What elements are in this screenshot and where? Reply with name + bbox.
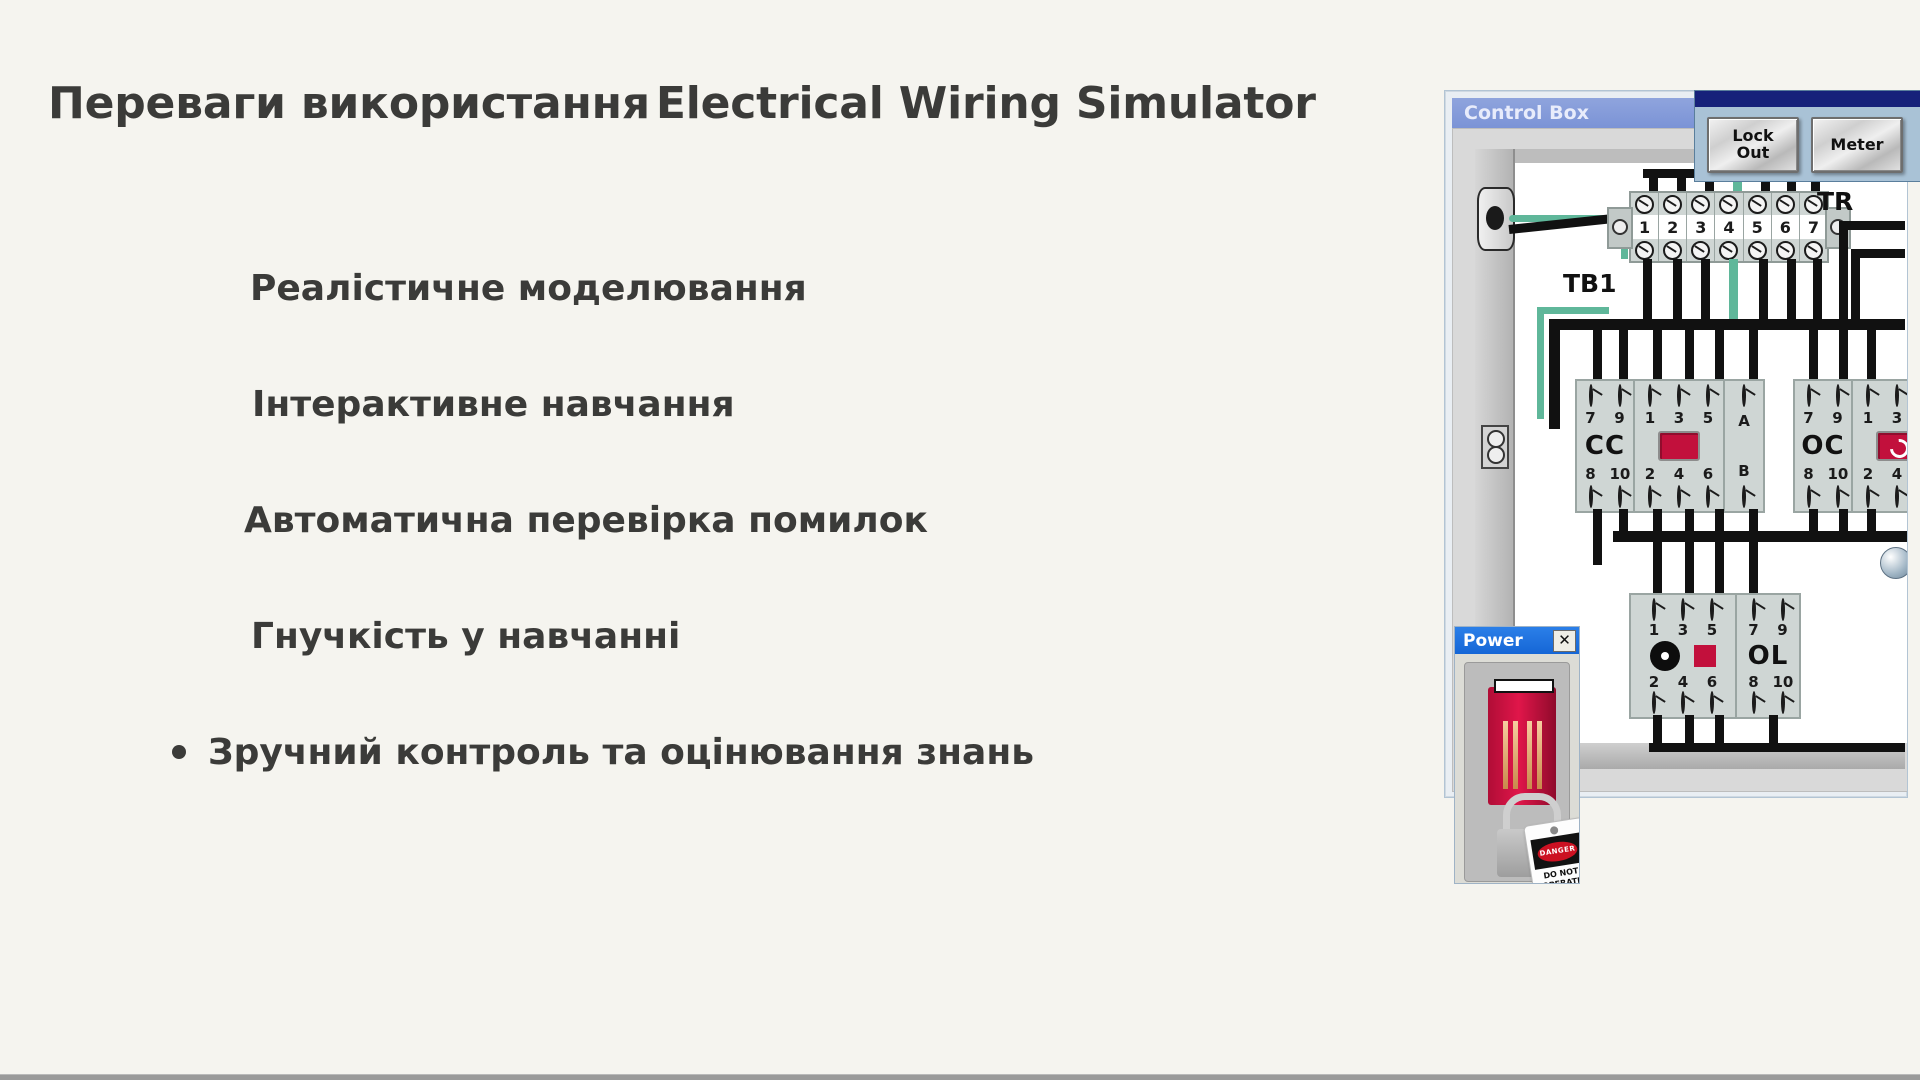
tb1-numbers: 1 2 3 4 5 6 7 (1631, 215, 1827, 239)
relay-pin-number: 6 (1698, 465, 1718, 483)
fuse-prong (1503, 721, 1508, 789)
wire-black (1809, 509, 1818, 537)
ol-pin-number: 10 (1773, 673, 1793, 691)
tag-hole-icon (1550, 826, 1559, 835)
terminal-screw-icon[interactable] (1706, 384, 1710, 407)
benefits-list: Реалістичне моделювання Інтерактивне нав… (0, 230, 1180, 810)
wire-black (1715, 509, 1724, 595)
tag-danger-band: DANGER (1530, 832, 1579, 869)
list-item-label: Автоматична перевірка помилок (244, 500, 928, 541)
relay-pin-number: 2 (1858, 465, 1878, 483)
wire-ground (1537, 307, 1544, 419)
wire-black (1839, 509, 1848, 537)
ol-pin-number: 7 (1744, 621, 1764, 639)
list-item-label: Реалістичне моделювання (250, 268, 807, 309)
relay-pin-number: 5 (1698, 409, 1718, 427)
wire-black (1851, 249, 1860, 321)
relay-pin-number: 2 (1640, 465, 1660, 483)
list-item-label: Гнучкість у навчанні (251, 616, 680, 657)
terminal-screw-icon[interactable] (1677, 485, 1681, 508)
terminal-screw-icon[interactable] (1895, 384, 1899, 407)
power-titlebar[interactable]: Power ✕ (1455, 627, 1579, 654)
terminal-block-tb1[interactable]: 1 2 3 4 5 6 7 (1629, 191, 1829, 263)
relay-pin-number: 10 (1828, 465, 1848, 483)
bullet-dot-icon (172, 745, 186, 759)
slide-bottom-divider (0, 1074, 1920, 1080)
relay-pin-number: 7 (1581, 409, 1601, 427)
terminal-screw-icon[interactable] (1866, 384, 1870, 407)
terminal-screw-icon[interactable] (1719, 195, 1738, 214)
wire-ground (1729, 259, 1738, 321)
wire-black (1813, 259, 1822, 321)
simulator-screenshot: Control Box (1444, 90, 1920, 796)
relay-pin-number: A (1734, 412, 1754, 430)
tb1-label: TB1 (1563, 269, 1617, 298)
control-box-title: Control Box (1464, 102, 1589, 124)
relay-pin-number: 9 (1610, 409, 1630, 427)
page-title: Переваги використанняElectrical Wiring S… (48, 78, 1316, 129)
terminal-screw-icon[interactable] (1618, 485, 1622, 508)
disconnect-handle[interactable] (1488, 687, 1556, 805)
ol-pin-number: 3 (1673, 621, 1693, 639)
wire-black (1839, 221, 1905, 230)
overload-trip-indicator[interactable] (1694, 645, 1716, 667)
disconnect-panel[interactable]: DANGER DO NOT OPERATE (1464, 662, 1570, 882)
terminal-screw-icon[interactable] (1781, 598, 1785, 621)
terminal-screw-icon[interactable] (1895, 485, 1899, 508)
overload-relay-ol[interactable]: 135 246 79 OL 810 (1629, 593, 1801, 719)
wire-black (1653, 329, 1662, 381)
wire-black (1673, 259, 1682, 321)
tb1-number: 5 (1744, 215, 1772, 239)
wire-black (1643, 259, 1652, 321)
terminal-screw-icon[interactable] (1681, 598, 1685, 621)
list-item: Автоматична перевірка помилок (0, 462, 1180, 578)
terminal-screw-icon[interactable] (1776, 241, 1795, 260)
terminal-screw-icon[interactable] (1807, 384, 1811, 407)
fuse-prong (1527, 721, 1532, 789)
lockout-tag[interactable]: DANGER DO NOT OPERATE (1523, 817, 1579, 883)
wire-black (1749, 509, 1758, 595)
terminal-mount-ear (1607, 207, 1633, 249)
terminal-screw-icon[interactable] (1706, 485, 1710, 508)
wire-black (1685, 509, 1694, 595)
terminal-screw-icon[interactable] (1681, 691, 1685, 714)
terminal-screw-icon[interactable] (1748, 195, 1767, 214)
relay-cc[interactable]: 79 CC 810 135 246 A · B (1575, 379, 1765, 513)
power-window: Power ✕ DANGER DO NOT OPE (1454, 626, 1580, 884)
tool-palette-window: Lock Out Meter (1694, 90, 1920, 182)
ol-pin-number: 1 (1644, 621, 1664, 639)
wire-black (1759, 259, 1768, 321)
power-window-body: DANGER DO NOT OPERATE (1455, 654, 1579, 883)
wire-black (1653, 509, 1662, 595)
terminal-screw-icon[interactable] (1589, 384, 1593, 407)
terminal-screw-icon[interactable] (1748, 241, 1767, 260)
relay-name: CC (1585, 431, 1625, 461)
list-item: Інтерактивне навчання (0, 346, 1180, 462)
tb1-number: 3 (1687, 215, 1715, 239)
terminal-screw-icon[interactable] (1776, 195, 1795, 214)
list-item-label: Інтерактивне навчання (252, 384, 735, 425)
relay-coil-indicator[interactable] (1876, 431, 1908, 461)
ol-pin-number: 5 (1702, 621, 1722, 639)
tb1-number: 2 (1659, 215, 1687, 239)
wire-black (1787, 259, 1796, 321)
terminal-screw-icon[interactable] (1752, 598, 1756, 621)
lock-out-button[interactable]: Lock Out (1707, 117, 1799, 173)
wire-black (1749, 329, 1758, 381)
terminal-screw-icon[interactable] (1742, 384, 1746, 407)
wire-black (1593, 329, 1602, 381)
tb1-top-screws (1631, 193, 1827, 215)
relay-pin-number: 3 (1887, 409, 1907, 427)
terminal-screw-icon[interactable] (1691, 195, 1710, 214)
page-title-en: Electrical Wiring Simulator (656, 78, 1316, 129)
relay-pin-number: 1 (1640, 409, 1660, 427)
overload-dial-icon[interactable] (1650, 641, 1680, 671)
ol-pin-number: 9 (1773, 621, 1793, 639)
tb1-number: 4 (1715, 215, 1743, 239)
tool-palette-body: Lock Out Meter (1695, 107, 1920, 183)
relay-pin-number: 8 (1799, 465, 1819, 483)
ol-pin-number: 6 (1702, 673, 1722, 691)
overload-name: OL (1748, 641, 1789, 671)
meter-button[interactable]: Meter (1811, 117, 1903, 173)
wire-black (1867, 509, 1876, 537)
list-item: Зручний контроль та оцінювання знань (0, 694, 1180, 810)
terminal-screw-icon[interactable] (1648, 485, 1652, 508)
terminal-screw-icon[interactable] (1652, 598, 1656, 621)
wire-black (1867, 329, 1876, 381)
ground-lug-icon (1481, 425, 1509, 469)
selector-knob-icon[interactable] (1880, 547, 1908, 579)
ol-pin-number: 4 (1673, 673, 1693, 691)
page-title-uk: Переваги використання (48, 78, 650, 129)
wire-black (1701, 259, 1710, 321)
terminal-screw-icon[interactable] (1589, 485, 1593, 508)
terminal-screw-icon[interactable] (1618, 384, 1622, 407)
relay-pin-number: 4 (1887, 465, 1907, 483)
relay-name: OC (1801, 431, 1844, 461)
relay-pin-number: B (1734, 462, 1754, 480)
list-item-label: Зручний контроль та оцінювання знань (208, 732, 1034, 773)
tb1-bottom-screws (1631, 239, 1827, 261)
terminal-screw-icon[interactable] (1663, 241, 1682, 260)
relay-pin-number: 1 (1858, 409, 1878, 427)
terminal-screw-icon[interactable] (1677, 384, 1681, 407)
terminal-screw-icon[interactable] (1710, 598, 1714, 621)
terminal-screw-icon[interactable] (1807, 485, 1811, 508)
terminal-screw-icon[interactable] (1742, 485, 1746, 508)
terminal-screw-icon[interactable] (1648, 384, 1652, 407)
wire-black (1549, 319, 1560, 429)
terminal-screw-icon[interactable] (1752, 691, 1756, 714)
wire-black (1619, 329, 1628, 381)
relay-pin-number: 7 (1799, 409, 1819, 427)
wire-black (1809, 329, 1818, 381)
tb1-number: 1 (1631, 215, 1659, 239)
terminal-screw-icon[interactable] (1836, 485, 1840, 508)
list-item: Гнучкість у навчанні (0, 578, 1180, 694)
wire-black (1649, 743, 1905, 752)
tool-palette-titlebar[interactable] (1695, 91, 1920, 107)
wire-black (1851, 249, 1905, 258)
relay-pin-number: 8 (1581, 465, 1601, 483)
wire-black (1839, 221, 1848, 321)
meter-label: Meter (1830, 137, 1883, 154)
wire-ground (1537, 307, 1609, 314)
power-window-title: Power (1463, 631, 1523, 651)
terminal-screw-icon[interactable] (1781, 691, 1785, 714)
terminal-screw-icon[interactable] (1710, 691, 1714, 714)
relay-pin-number: 3 (1669, 409, 1689, 427)
wire-black (1715, 329, 1724, 381)
relay-pin-number: 4 (1669, 465, 1689, 483)
tb1-number: 6 (1772, 215, 1800, 239)
wire-black (1593, 509, 1602, 565)
tag-danger-text: DANGER (1536, 839, 1578, 864)
relay-oc[interactable]: 79 OC 810 135 246 A · B (1793, 379, 1908, 513)
terminal-screw-icon[interactable] (1635, 195, 1654, 214)
ol-pin-number: 2 (1644, 673, 1664, 691)
terminal-screw-icon[interactable] (1804, 241, 1823, 260)
list-item: Реалістичне моделювання (0, 230, 1180, 346)
relay-pin-number: 9 (1828, 409, 1848, 427)
terminal-screw-icon[interactable] (1836, 384, 1840, 407)
tb1-number: 7 (1800, 215, 1827, 239)
wire-black (1839, 329, 1848, 381)
terminal-screw-icon[interactable] (1866, 485, 1870, 508)
wire-black (1685, 329, 1694, 381)
terminal-screw-icon[interactable] (1663, 195, 1682, 214)
close-icon[interactable]: ✕ (1553, 630, 1576, 652)
relay-pin-number: 10 (1610, 465, 1630, 483)
terminal-screw-icon[interactable] (1719, 241, 1738, 260)
lock-out-label-line2: Out (1737, 143, 1770, 162)
relay-coil-indicator[interactable] (1658, 431, 1700, 461)
ol-pin-number: 8 (1744, 673, 1764, 691)
terminal-screw-icon[interactable] (1635, 241, 1654, 260)
terminal-screw-icon[interactable] (1652, 691, 1656, 714)
fuse-prong (1513, 721, 1518, 789)
fuse-prong (1537, 721, 1542, 789)
tr-label: TR (1817, 187, 1853, 216)
terminal-screw-icon[interactable] (1691, 241, 1710, 260)
